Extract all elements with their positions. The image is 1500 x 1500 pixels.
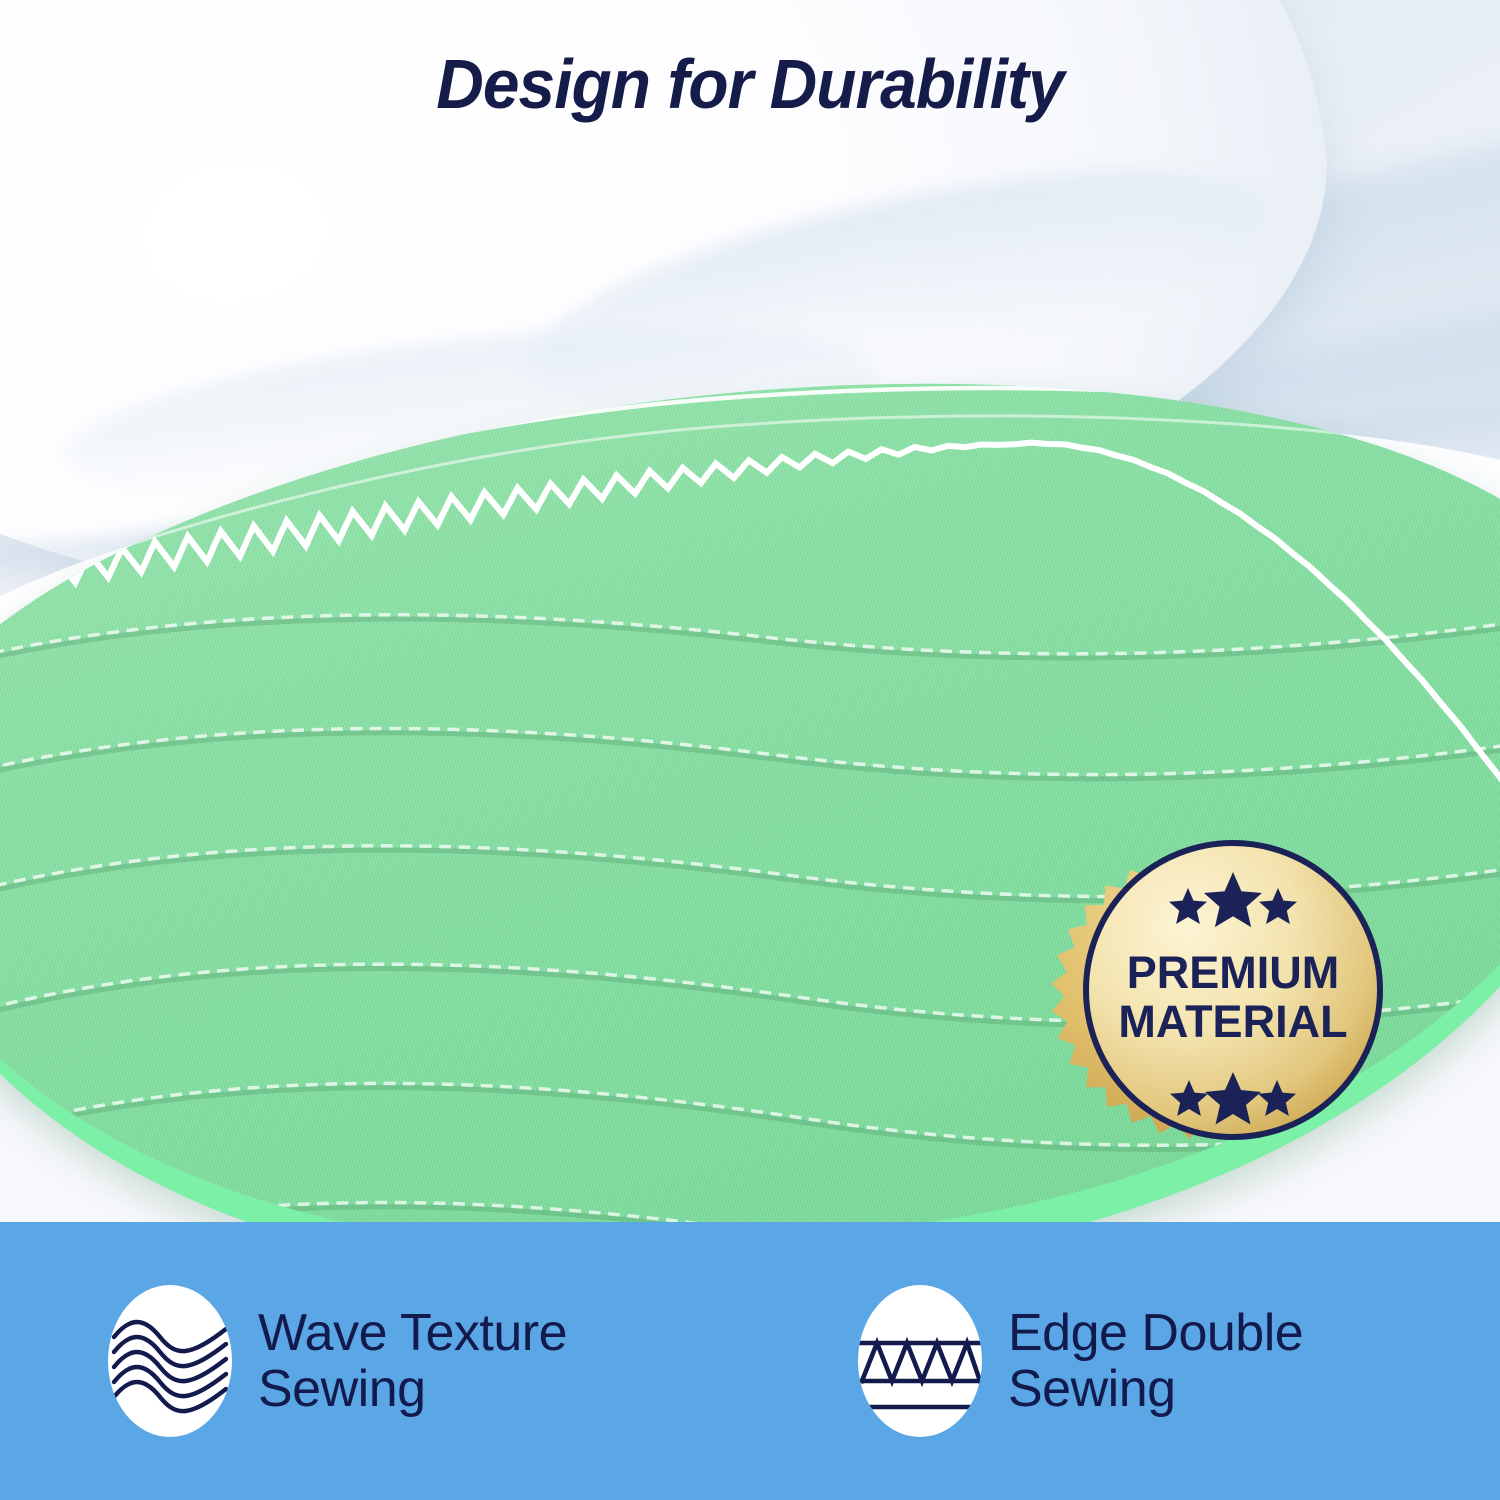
- badge-line-2: MATERIAL: [1118, 996, 1347, 1047]
- feature-label: Edge Double Sewing: [1008, 1305, 1303, 1417]
- feature-list: Wave Texture Sewing Edge Double Sewing: [0, 1222, 1500, 1500]
- page-title: Design for Durability: [45, 44, 1455, 124]
- product-feature-image: Design for Durability: [0, 0, 1500, 1500]
- feature-wave-texture-sewing[interactable]: Wave Texture Sewing: [0, 1285, 750, 1437]
- zigzag-stitch-icon: [858, 1285, 982, 1437]
- wave-stitch-icon: [108, 1285, 232, 1437]
- premium-material-badge: PREMIUM MATERIAL: [1043, 832, 1423, 1212]
- feature-label: Wave Texture Sewing: [258, 1305, 567, 1417]
- feature-edge-double-sewing[interactable]: Edge Double Sewing: [750, 1285, 1500, 1437]
- feature-band: Wave Texture Sewing Edge Double Sewing: [0, 1222, 1500, 1500]
- badge-line-1: PREMIUM: [1127, 947, 1340, 998]
